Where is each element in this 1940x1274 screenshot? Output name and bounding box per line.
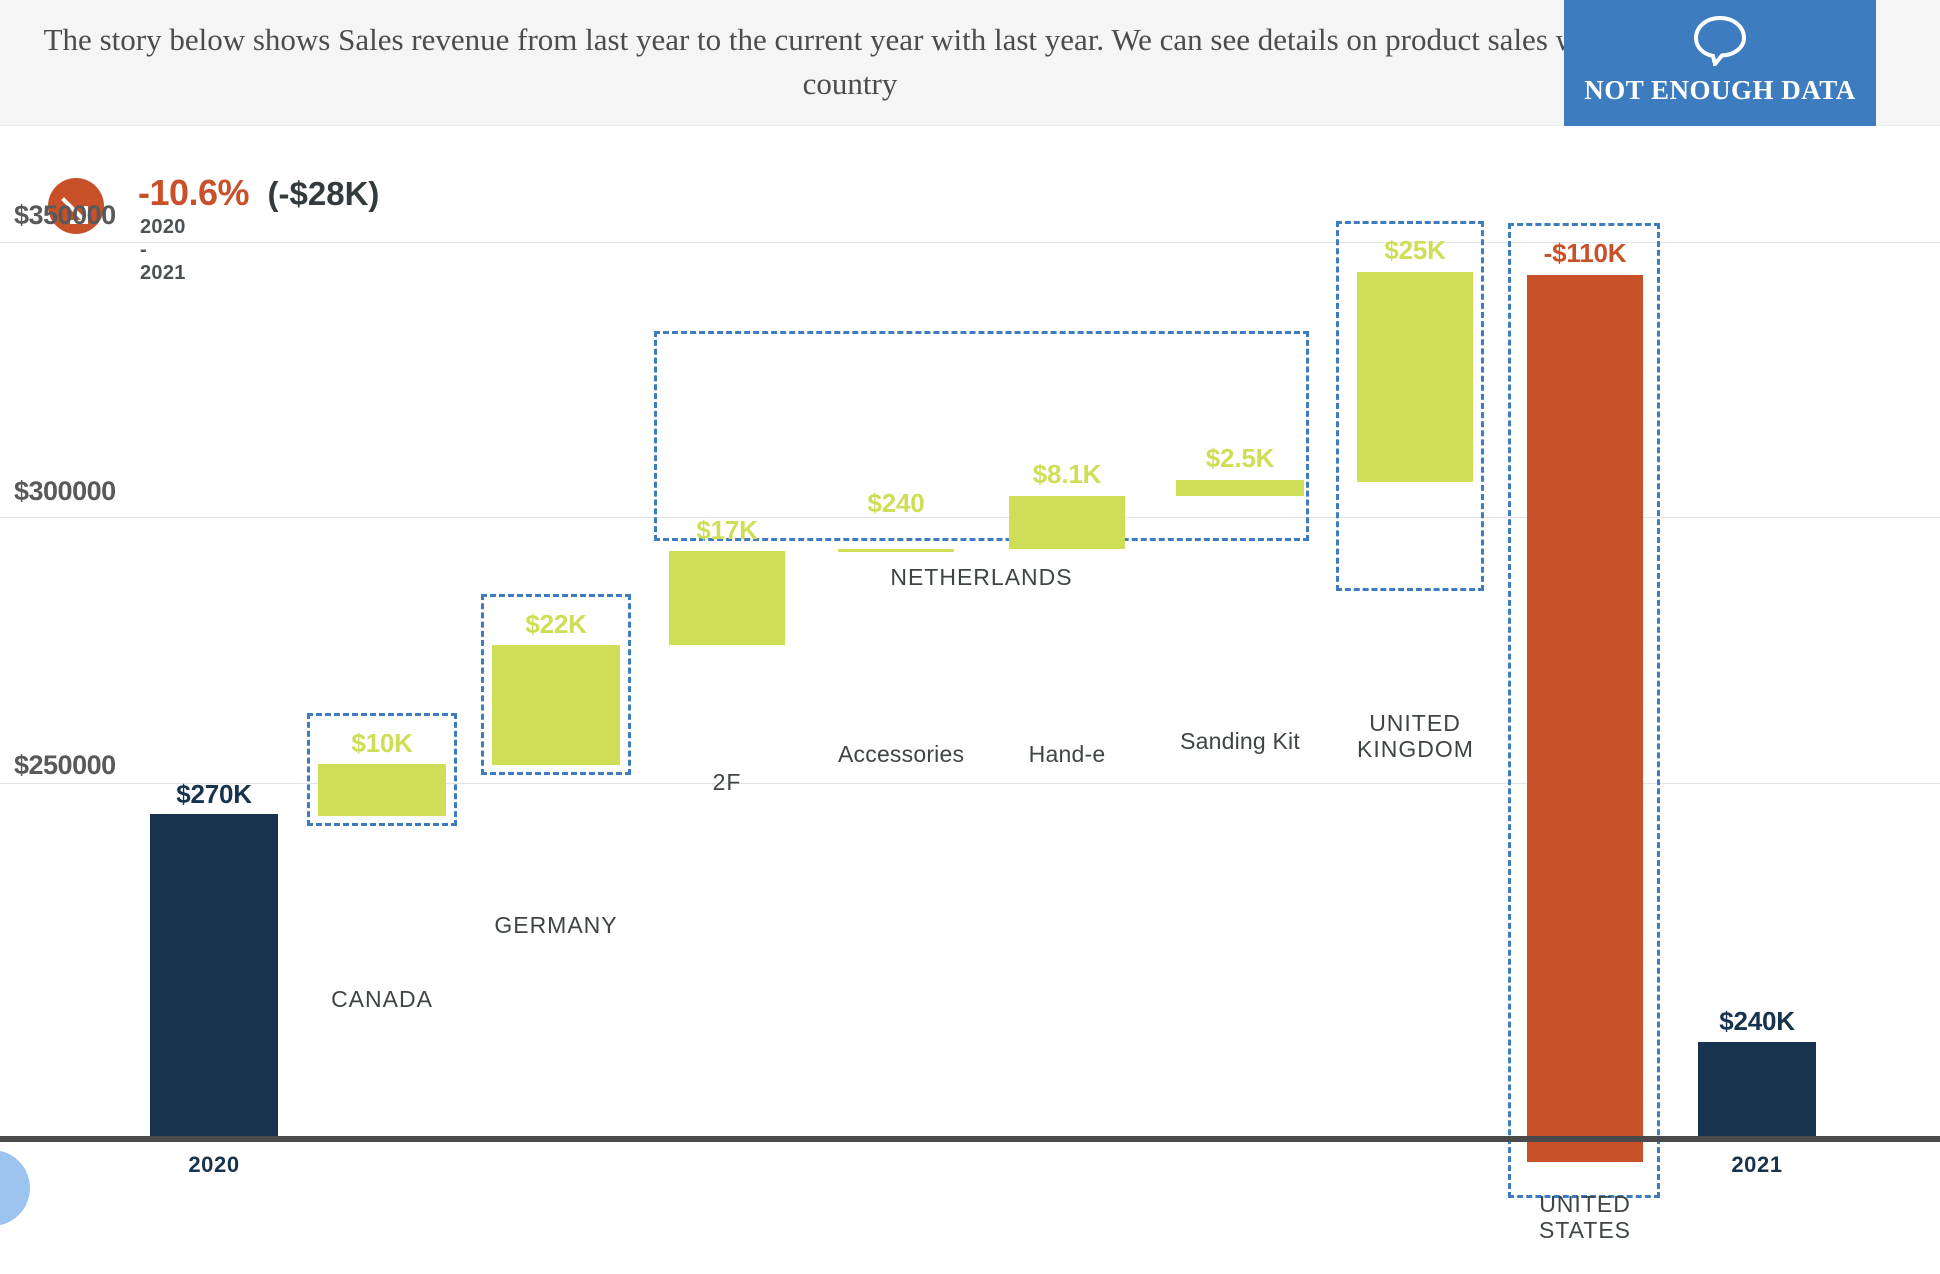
category-label-united-kingdom: UNITED KINGDOM	[1357, 710, 1473, 763]
value-label-2f: $17K	[669, 515, 785, 546]
y-axis-tick-1: $300000	[14, 476, 116, 507]
bar-2021[interactable]	[1698, 1042, 1816, 1136]
category-label-accessories: Accessories	[838, 741, 954, 768]
bar-canada[interactable]	[318, 764, 446, 816]
y-axis-tick-2: $250000	[14, 750, 116, 781]
not-enough-data-badge[interactable]: NOT ENOUGH DATA	[1564, 0, 1876, 126]
story-header: The story below shows Sales revenue from…	[0, 0, 1940, 126]
bar-2f[interactable]	[669, 551, 785, 645]
category-label-sanding-kit: Sanding Kit	[1176, 728, 1304, 755]
ribbon-zigzag-icon	[1564, 112, 1876, 126]
x-axis-baseline	[0, 1136, 1940, 1142]
gridline-0	[0, 242, 1940, 243]
speech-bubble-icon	[1564, 14, 1876, 71]
y-axis-tick-0: $350000	[14, 200, 116, 231]
not-enough-data-label: NOT ENOUGH DATA	[1564, 75, 1876, 112]
value-label-united-kingdom: $25K	[1357, 235, 1473, 266]
category-label-united-states: UNITED STATES	[1527, 1191, 1643, 1244]
scroll-left-handle[interactable]	[0, 1150, 30, 1226]
waterfall-chart[interactable]: $350000$300000$250000NETHERLANDS$270K$10…	[0, 126, 1940, 1274]
gridline-1	[0, 517, 1940, 518]
category-label-2f: 2F	[669, 769, 785, 796]
bar-sanding-kit[interactable]	[1176, 480, 1304, 496]
category-label-hand-e: Hand-e	[1009, 741, 1125, 768]
value-label-hand-e: $8.1K	[1009, 459, 1125, 490]
bar-hand-e[interactable]	[1009, 496, 1125, 549]
category-label-canada: CANADA	[318, 986, 446, 1013]
value-label-accessories: $240	[838, 488, 954, 519]
bar-2020[interactable]	[150, 814, 278, 1136]
gridline-2	[0, 783, 1940, 784]
category-label-germany: GERMANY	[492, 912, 620, 939]
value-label-united-states: -$110K	[1527, 238, 1643, 269]
value-label-2021: $240K	[1698, 1006, 1816, 1037]
story-description: The story below shows Sales revenue from…	[0, 18, 1700, 106]
x-axis-tick-2021: 2021	[1698, 1152, 1816, 1178]
bar-germany[interactable]	[492, 645, 620, 765]
selection-box-netherlands	[654, 331, 1309, 541]
bar-united-states[interactable]	[1527, 275, 1643, 1162]
value-label-germany: $22K	[492, 609, 620, 640]
value-label-canada: $10K	[318, 728, 446, 759]
value-label-2020: $270K	[150, 779, 278, 810]
bar-accessories[interactable]	[838, 549, 954, 552]
value-label-sanding-kit: $2.5K	[1176, 443, 1304, 474]
bar-united-kingdom[interactable]	[1357, 272, 1473, 482]
x-axis-tick-2020: 2020	[150, 1152, 278, 1178]
